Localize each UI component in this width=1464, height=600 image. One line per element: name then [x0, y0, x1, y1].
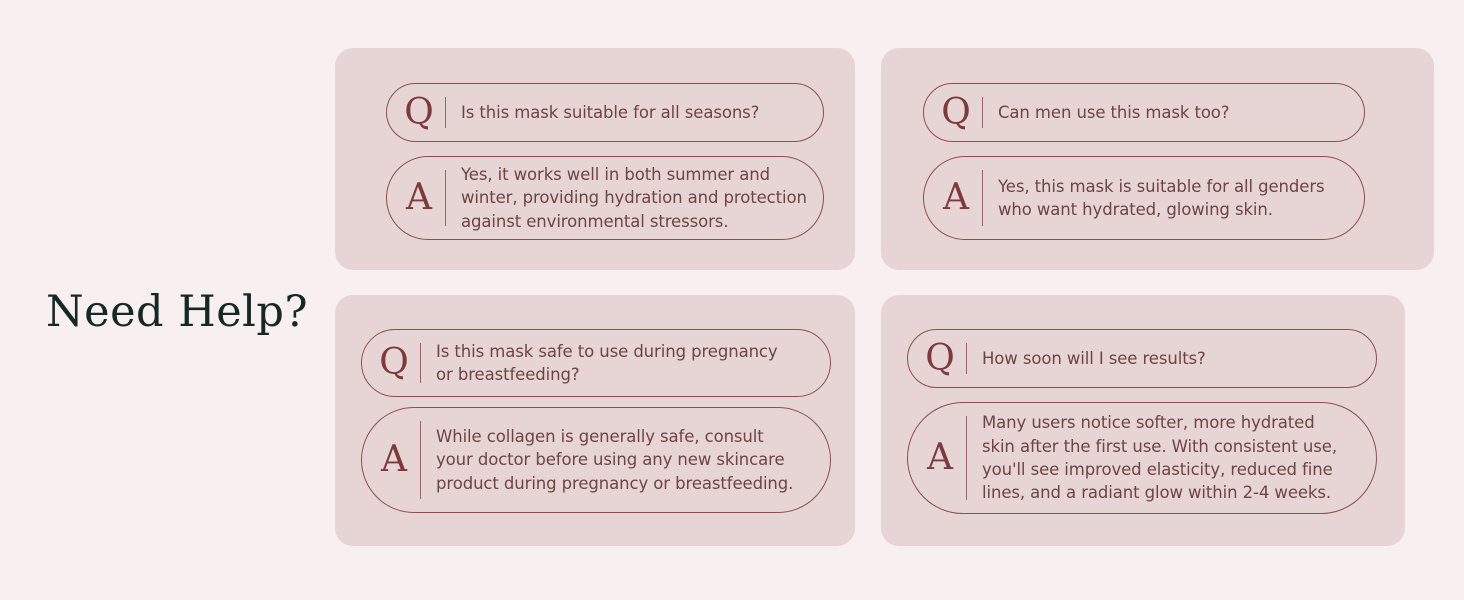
faq-answer-pill[interactable]: A While collagen is generally safe, cons… — [361, 407, 831, 513]
faq-answer-text: Yes, this mask is suitable for all gende… — [983, 175, 1364, 222]
faq-answer-text: Yes, it works well in both summer and wi… — [446, 163, 823, 233]
faq-question-pill[interactable]: Q Is this mask safe to use during pregna… — [361, 329, 831, 397]
faq-question-text: Is this mask suitable for all seasons? — [446, 101, 823, 124]
question-marker-letter: Q — [908, 341, 966, 377]
faq-card: Q Is this mask safe to use during pregna… — [335, 295, 855, 546]
answer-marker-letter: A — [362, 442, 420, 478]
faq-question-pill[interactable]: Q Can men use this mask too? — [923, 83, 1365, 142]
faq-card: Q How soon will I see results? A Many us… — [881, 295, 1405, 546]
faq-answer-pill[interactable]: A Yes, it works well in both summer and … — [386, 156, 824, 240]
faq-question-text: How soon will I see results? — [967, 347, 1376, 370]
answer-marker-letter: A — [387, 180, 445, 216]
answer-marker-letter: A — [908, 440, 966, 476]
question-marker-letter: Q — [387, 95, 445, 131]
faq-question-pill[interactable]: Q How soon will I see results? — [907, 329, 1377, 388]
faq-question-text: Is this mask safe to use during pregnanc… — [421, 340, 830, 387]
question-marker-letter: Q — [362, 345, 420, 381]
answer-marker-letter: A — [924, 180, 982, 216]
faq-answer-pill[interactable]: A Many users notice softer, more hydrate… — [907, 402, 1377, 514]
faq-card: Q Can men use this mask too? A Yes, this… — [881, 48, 1434, 270]
faq-answer-pill[interactable]: A Yes, this mask is suitable for all gen… — [923, 156, 1365, 240]
faq-answer-text: Many users notice softer, more hydrated … — [967, 411, 1376, 505]
question-marker-letter: Q — [924, 95, 982, 131]
faq-question-pill[interactable]: Q Is this mask suitable for all seasons? — [386, 83, 824, 142]
page-title: Need Help? — [46, 287, 316, 339]
faq-question-text: Can men use this mask too? — [983, 101, 1364, 124]
faq-answer-text: While collagen is generally safe, consul… — [421, 425, 830, 495]
faq-card: Q Is this mask suitable for all seasons?… — [335, 48, 855, 270]
faq-page: Need Help? Q Is this mask suitable for a… — [0, 0, 1464, 600]
